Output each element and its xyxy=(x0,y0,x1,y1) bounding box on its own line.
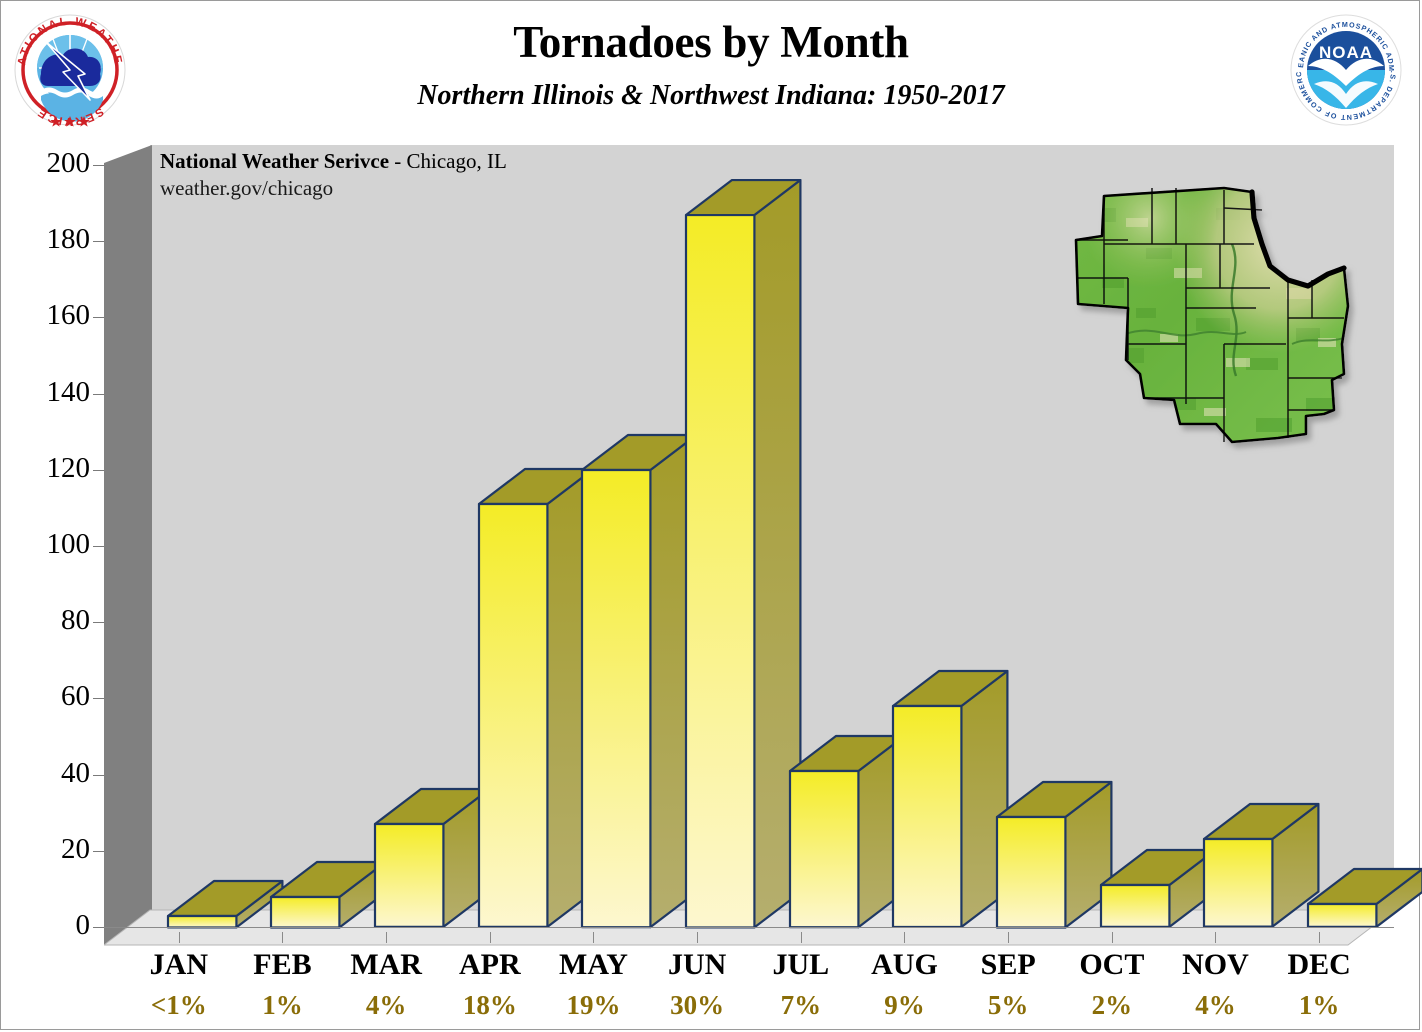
x-axis-percent-label: 4% xyxy=(1164,990,1268,1021)
chart-header: NATIONAL WEATHER SERVICE N xyxy=(0,0,1422,140)
page-subtitle: Northern Illinois & Northwest Indiana: 1… xyxy=(0,80,1422,112)
x-axis-tick-mark xyxy=(904,932,905,943)
x-axis-tick-mark xyxy=(490,932,491,943)
x-axis-percent-label: 1% xyxy=(1267,990,1371,1021)
x-axis-tick-mark xyxy=(697,932,698,943)
y-axis-tick-mark xyxy=(93,241,104,242)
y-axis-tick-mark xyxy=(93,775,104,776)
x-axis-tick-mark xyxy=(593,932,594,943)
x-axis-tick-mark xyxy=(1215,932,1216,943)
y-axis-tick-label: 0 xyxy=(76,909,91,942)
x-axis-tick-mark xyxy=(1112,932,1113,943)
office-website: weather.gov/chicago xyxy=(160,175,660,202)
y-axis-tick-label: 60 xyxy=(61,680,90,713)
y-axis-tick-label: 200 xyxy=(47,147,91,180)
y-axis-tick-mark xyxy=(93,546,104,547)
y-axis-tick-label: 20 xyxy=(61,833,90,866)
x-axis-month-label: MAR xyxy=(334,948,438,982)
x-axis-percent-label: 19% xyxy=(542,990,646,1021)
bar-3d-shape xyxy=(580,432,698,930)
x-axis-month-label: NOV xyxy=(1164,948,1268,982)
y-axis-tick-mark xyxy=(93,698,104,699)
y-axis-tick-mark xyxy=(93,470,104,471)
x-axis-month-label: FEB xyxy=(231,948,335,982)
office-annotation: National Weather Serivce - Chicago, IL w… xyxy=(160,148,660,202)
x-axis-month-label: JUL xyxy=(749,948,853,982)
x-axis-tick-mark xyxy=(1319,932,1320,943)
x-axis-month-label: JUN xyxy=(645,948,749,982)
y-axis-tick-mark xyxy=(93,622,104,623)
x-axis-month-label: SEP xyxy=(956,948,1060,982)
x-axis-tick-mark xyxy=(1008,932,1009,943)
x-axis-labels: JAN<1%FEB1%MAR4%APR18%MAY19%JUN30%JUL7%A… xyxy=(104,932,1394,1032)
x-axis-tick-mark xyxy=(179,932,180,943)
page-title: Tornadoes by Month xyxy=(0,16,1422,68)
y-axis-tick-label: 180 xyxy=(47,223,91,256)
office-location: - Chicago, IL xyxy=(389,149,507,173)
x-axis-month-label: OCT xyxy=(1060,948,1164,982)
x-axis-month-label: DEC xyxy=(1267,948,1371,982)
bar-3d-shape xyxy=(788,733,906,930)
x-axis-tick-mark xyxy=(386,932,387,943)
x-axis-month-label: AUG xyxy=(853,948,957,982)
x-axis-month-label: JAN xyxy=(127,948,231,982)
bar-3d-shape xyxy=(166,878,284,930)
x-axis-line xyxy=(104,927,1394,928)
y-axis-tick-mark xyxy=(93,927,104,928)
x-axis-percent-label: 1% xyxy=(231,990,335,1021)
y-axis-tick-mark xyxy=(93,394,104,395)
y-axis-tick-label: 160 xyxy=(47,299,91,332)
y-axis-tick-mark xyxy=(93,317,104,318)
nws-chicago-cwa-map xyxy=(1056,148,1366,468)
x-axis-percent-label: 2% xyxy=(1060,990,1164,1021)
x-axis-month-label: APR xyxy=(438,948,542,982)
bar-3d-shape xyxy=(1306,866,1422,930)
y-axis-tick-mark xyxy=(93,165,104,166)
x-axis-percent-label: 30% xyxy=(645,990,749,1021)
bar-3d-shape xyxy=(1099,847,1217,930)
y-axis-tick-mark xyxy=(93,851,104,852)
x-axis-percent-label: 18% xyxy=(438,990,542,1021)
x-axis-percent-label: 7% xyxy=(749,990,853,1021)
y-axis-tick-label: 40 xyxy=(61,757,90,790)
x-axis-tick-mark xyxy=(801,932,802,943)
x-axis-percent-label: 9% xyxy=(853,990,957,1021)
office-name-line: National Weather Serivce - Chicago, IL xyxy=(160,148,660,175)
y-axis-tick-label: 140 xyxy=(47,376,91,409)
bar-3d-shape xyxy=(373,786,491,930)
bar-3d-shape xyxy=(1202,801,1320,930)
x-axis-month-label: MAY xyxy=(542,948,646,982)
bar-3d-shape xyxy=(477,466,595,930)
x-axis-percent-label: <1% xyxy=(127,990,231,1021)
bar-3d-shape xyxy=(684,177,802,930)
bar-3d-shape xyxy=(995,779,1113,930)
chart-plot-area: National Weather Serivce - Chicago, IL w… xyxy=(104,145,1394,945)
x-axis-percent-label: 5% xyxy=(956,990,1060,1021)
x-axis-tick-mark xyxy=(282,932,283,943)
y-axis: 020406080100120140160180200 xyxy=(0,145,104,945)
x-axis-percent-label: 4% xyxy=(334,990,438,1021)
office-name-bold: National Weather Serivce xyxy=(160,149,389,173)
y-axis-tick-label: 80 xyxy=(61,604,90,637)
y-axis-tick-label: 120 xyxy=(47,452,91,485)
bar-3d-shape xyxy=(269,859,387,930)
y-axis-tick-label: 100 xyxy=(47,528,91,561)
bar-3d-shape xyxy=(891,668,1009,930)
